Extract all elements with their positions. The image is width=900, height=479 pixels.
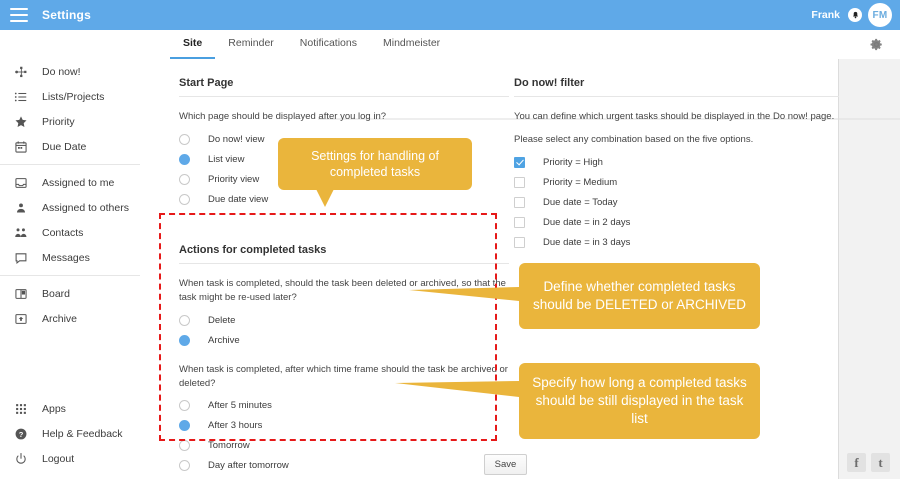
page-background xyxy=(838,59,900,479)
tab-site[interactable]: Site xyxy=(170,30,215,59)
tab-notifications[interactable]: Notifications xyxy=(287,30,370,59)
sidebar-item-board[interactable]: Board xyxy=(0,281,159,306)
delete-archive-radio-group: Delete Archive xyxy=(179,310,509,350)
timeframe-radio-group: After 5 minutes After 3 hours Tomorrow D… xyxy=(179,396,509,476)
page-title: Settings xyxy=(42,0,91,30)
callout-text: Specify how long a completed tasks shoul… xyxy=(529,374,750,427)
option-label: Due date = in 3 days xyxy=(543,237,630,248)
sidebar-item-label: Help & Feedback xyxy=(42,428,123,440)
do-now-filter-checkbox-group: Priority = High Priority = Medium Due da… xyxy=(514,153,839,253)
option-label: Do now! view xyxy=(208,134,265,145)
sidebar-divider xyxy=(0,275,140,276)
option-label: Due date = Today xyxy=(543,197,618,208)
avatar[interactable]: FM xyxy=(868,3,892,27)
sidebar-item-label: Do now! xyxy=(42,66,81,78)
radio-option-after-3-hours[interactable]: After 3 hours xyxy=(179,416,509,436)
checkbox-option-due-date-2-days[interactable]: Due date = in 2 days xyxy=(514,213,839,233)
bell-icon[interactable] xyxy=(848,8,862,22)
sidebar-item-due-date[interactable]: Due Date xyxy=(0,134,159,159)
archive-icon xyxy=(14,311,36,327)
option-label: Priority view xyxy=(208,174,259,185)
sidebar-item-lists-projects[interactable]: Lists/Projects xyxy=(0,84,159,109)
radio-option-delete[interactable]: Delete xyxy=(179,310,509,330)
sidebar-item-assigned-to-others[interactable]: Assigned to others xyxy=(0,195,159,220)
radio-icon[interactable] xyxy=(179,460,190,471)
board-icon xyxy=(14,286,36,302)
sidebar-item-label: Priority xyxy=(42,116,75,128)
radio-option-tomorrow[interactable]: Tomorrow xyxy=(179,436,509,456)
checkbox-option-due-date-today[interactable]: Due date = Today xyxy=(514,193,839,213)
sidebar-item-messages[interactable]: Messages xyxy=(0,245,159,270)
checkbox-option-priority-medium[interactable]: Priority = Medium xyxy=(514,173,839,193)
radio-icon[interactable] xyxy=(179,440,190,451)
facebook-icon[interactable]: f xyxy=(847,453,866,472)
sidebar-item-label: Contacts xyxy=(42,227,83,239)
tab-list: Site Reminder Notifications Mindmeister xyxy=(170,30,453,59)
sidebar-item-label: Assigned to others xyxy=(42,202,129,214)
sidebar-item-label: Due Date xyxy=(42,141,86,153)
radio-icon[interactable] xyxy=(179,315,190,326)
radio-icon[interactable] xyxy=(179,194,190,205)
sidebar-bottom-nav: Apps ? Help & Feedback Logout xyxy=(0,396,159,471)
sidebar-divider xyxy=(0,164,140,165)
option-label: Priority = Medium xyxy=(543,177,617,188)
inbox-icon xyxy=(14,175,36,191)
sidebar-item-label: Archive xyxy=(42,313,77,325)
option-label: Priority = High xyxy=(543,157,603,168)
do-now-filter-section-title: Do now! filter xyxy=(514,59,839,89)
start-page-question: Which page should be displayed after you… xyxy=(179,110,509,124)
sidebar-nav: Do now! Lists/Projects Priority xyxy=(0,59,159,331)
section-divider xyxy=(179,263,509,264)
power-icon xyxy=(14,451,36,467)
gear-icon[interactable] xyxy=(867,35,886,54)
checkbox-icon-checked[interactable] xyxy=(514,157,525,168)
radio-icon[interactable] xyxy=(179,174,190,185)
sidebar-item-label: Assigned to me xyxy=(42,177,114,189)
callout-text: Define whether completed tasks should be… xyxy=(529,278,750,314)
radio-icon-selected[interactable] xyxy=(179,335,190,346)
option-label: Due date = in 2 days xyxy=(543,217,630,228)
twitter-icon[interactable]: t xyxy=(871,453,890,472)
option-label: List view xyxy=(208,154,244,165)
do-now-icon xyxy=(14,64,36,80)
sidebar-item-priority[interactable]: Priority xyxy=(0,109,159,134)
sidebar-item-label: Apps xyxy=(42,403,66,415)
completed-tasks-section-title: Actions for completed tasks xyxy=(179,226,509,256)
hamburger-menu-icon[interactable] xyxy=(10,8,28,22)
sidebar-item-contacts[interactable]: Contacts xyxy=(0,220,159,245)
calendar-icon xyxy=(14,139,36,155)
annotation-callout-3: Specify how long a completed tasks shoul… xyxy=(519,363,760,439)
do-now-filter-description-1: You can define which urgent tasks should… xyxy=(514,110,839,124)
user-name-label[interactable]: Frank xyxy=(811,0,840,30)
sidebar-item-label: Board xyxy=(42,288,70,300)
checkbox-icon[interactable] xyxy=(514,177,525,188)
option-label: After 3 hours xyxy=(208,420,262,431)
sidebar-item-help-feedback[interactable]: ? Help & Feedback xyxy=(0,421,159,446)
radio-option-archive[interactable]: Archive xyxy=(179,330,509,350)
do-now-filter-description-2: Please select any combination based on t… xyxy=(514,133,839,147)
sidebar-item-logout[interactable]: Logout xyxy=(0,446,159,471)
callout-text: Settings for handling of completed tasks xyxy=(288,148,462,181)
radio-icon[interactable] xyxy=(179,134,190,145)
radio-icon[interactable] xyxy=(179,400,190,411)
checkbox-icon[interactable] xyxy=(514,197,525,208)
person-icon xyxy=(14,200,36,216)
radio-option-due-date-view[interactable]: Due date view xyxy=(179,190,509,210)
social-links: f t xyxy=(847,453,890,472)
checkbox-option-due-date-3-days[interactable]: Due date = in 3 days xyxy=(514,233,839,253)
sidebar-item-label: Logout xyxy=(42,453,74,465)
save-button[interactable]: Save xyxy=(484,454,527,475)
checkbox-icon[interactable] xyxy=(514,217,525,228)
checkbox-icon[interactable] xyxy=(514,237,525,248)
help-circle-icon: ? xyxy=(14,426,36,442)
option-label: Day after tomorrow xyxy=(208,460,289,471)
radio-option-after-5-minutes[interactable]: After 5 minutes xyxy=(179,396,509,416)
sidebar: Do now! Lists/Projects Priority xyxy=(0,59,160,479)
message-icon xyxy=(14,250,36,266)
sidebar-item-label: Messages xyxy=(42,252,90,264)
radio-icon-selected[interactable] xyxy=(179,420,190,431)
tab-mindmeister[interactable]: Mindmeister xyxy=(370,30,453,59)
annotation-callout-2: Define whether completed tasks should be… xyxy=(519,263,760,329)
option-label: Archive xyxy=(208,335,240,346)
sidebar-item-label: Lists/Projects xyxy=(42,91,104,103)
right-settings-column: Do now! filter You can define which urge… xyxy=(514,59,839,253)
star-icon xyxy=(14,114,36,130)
radio-option-day-after-tomorrow[interactable]: Day after tomorrow xyxy=(179,456,509,476)
start-page-section-title: Start Page xyxy=(179,59,509,89)
tab-reminder[interactable]: Reminder xyxy=(215,30,287,59)
section-divider xyxy=(179,96,509,97)
checkbox-option-priority-high[interactable]: Priority = High xyxy=(514,153,839,173)
sidebar-item-assigned-to-me[interactable]: Assigned to me xyxy=(0,170,159,195)
radio-icon-selected[interactable] xyxy=(179,154,190,165)
option-label: Due date view xyxy=(208,194,268,205)
svg-text:?: ? xyxy=(19,429,24,438)
apps-grid-icon xyxy=(14,401,36,417)
option-label: After 5 minutes xyxy=(208,400,272,411)
sidebar-item-apps[interactable]: Apps xyxy=(0,396,159,421)
list-icon xyxy=(14,89,36,105)
section-divider xyxy=(514,96,839,97)
top-bar: Settings Frank FM xyxy=(0,0,900,30)
tab-bar: Site Reminder Notifications Mindmeister xyxy=(0,30,900,60)
option-label: Delete xyxy=(208,315,235,326)
settings-app-window: Settings Frank FM Site Reminder Notifica… xyxy=(0,0,900,479)
left-settings-column: Start Page Which page should be displaye… xyxy=(179,59,509,476)
sidebar-item-archive[interactable]: Archive xyxy=(0,306,159,331)
contacts-icon xyxy=(14,225,36,241)
option-label: Tomorrow xyxy=(208,440,250,451)
sidebar-item-do-now[interactable]: Do now! xyxy=(0,59,159,84)
annotation-callout-1: Settings for handling of completed tasks xyxy=(278,138,472,190)
